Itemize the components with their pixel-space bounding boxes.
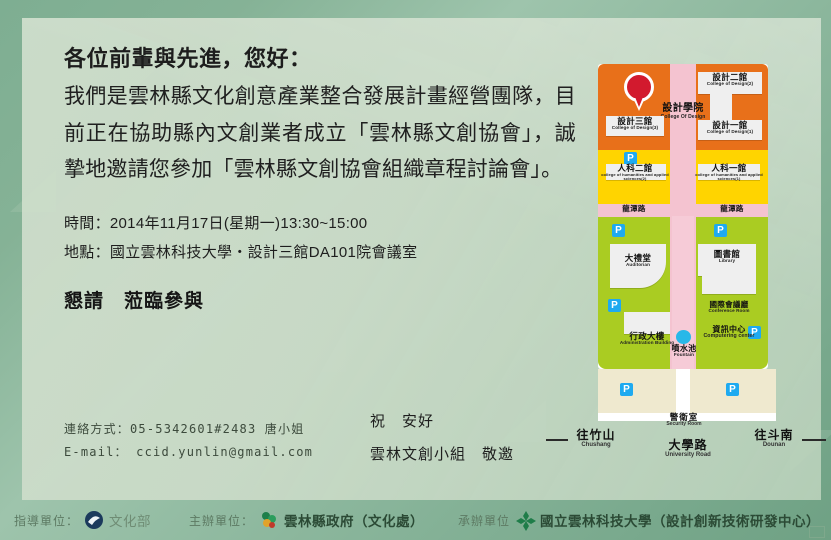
map-label-computing-center: 資訊中心 Computering center	[694, 326, 764, 340]
map-label-auditorium: 大禮堂 Auditorian	[610, 254, 666, 268]
contact-email: E-mail： ccid.yunlin@gmail.com	[64, 441, 313, 464]
map-label-conference: 國際會議廳 Conference Room	[696, 301, 762, 314]
letter-content: 各位前輩與先進，您好： 我們是雲林縣文化創意產業整合發展計畫經營團隊，目前正在協…	[64, 44, 584, 313]
sponsor-name: 國立雲林科技大學（設計創新技術研發中心）	[540, 510, 820, 530]
map-parking-icon: P	[714, 224, 727, 237]
map-label-fountain: 噴水池 Fountain	[656, 345, 712, 358]
map-label-longtan-road-right: 龍潭路	[702, 205, 762, 213]
map-label-university-road: 大學路 University Road	[652, 439, 724, 459]
map-label-security-room: 警衛室 Security Room	[648, 413, 720, 428]
campus-map: 設計學院 College Of Design 設計三館 College of D…	[598, 64, 768, 369]
sponsor-label: 承辦單位	[458, 512, 510, 529]
map-label-administration: 行政大樓 Administration Building	[614, 332, 680, 346]
location-pin-icon	[624, 72, 654, 110]
map-building-conference	[702, 276, 756, 294]
sponsor-ministry-of-culture: 指導單位： 文化部	[14, 510, 151, 530]
sponsor-yuntech: 承辦單位 國立雲林科技大學（設計創新技術研發中心）	[458, 510, 820, 530]
invite-line: 懇請 蒞臨參與	[64, 286, 584, 313]
event-time: 時間：2014年11月17日(星期一)13:30~15:00	[64, 209, 584, 238]
sponsor-label: 主辦單位：	[189, 512, 254, 529]
footer-corner-marker	[809, 526, 825, 538]
map-label-design1: 設計一館 College of Design(1)	[696, 121, 764, 135]
map-label-design2: 設計二館 College of Design(2)	[696, 73, 764, 87]
map-bottom-roads: P P 警衛室 Security Room 往竹山 Chushang 大學路 U…	[540, 369, 831, 461]
contact-block: 連絡方式：05-5342601#2483 唐小姐 E-mail： ccid.yu…	[64, 418, 313, 464]
map-label-humanities2: 人科二館 college of humanities and applied s…	[600, 164, 670, 181]
yuntech-logo-icon	[515, 510, 535, 530]
map-label-library: 圖書館 Library	[698, 250, 756, 264]
event-details: 時間：2014年11月17日(星期一)13:30~15:00 地點：國立雲林科技…	[64, 209, 584, 268]
contact-phone: 連絡方式：05-5342601#2483 唐小姐	[64, 418, 313, 441]
event-place: 地點：國立雲林科技大學・設計三館DA101院會議室	[64, 238, 584, 267]
greeting-line: 各位前輩與先進，您好：	[64, 44, 584, 75]
letter-body: 我們是雲林縣文化創意產業整合發展計畫經營團隊，目前正在協助縣內文創業者成立「雲林…	[64, 79, 576, 189]
signoff-wish: 祝 安好	[370, 405, 514, 438]
map-label-design3: 設計三館 College of Design(3)	[602, 117, 668, 131]
map-parking-icon: P	[612, 224, 625, 237]
sponsor-name: 雲林縣政府（文化處）	[284, 510, 424, 530]
map-label-longtan-road-left: 龍潭路	[604, 205, 664, 213]
map-parking-icon: P	[726, 383, 739, 396]
yunlin-county-logo-icon	[259, 510, 279, 530]
map-label-humanities1: 人科一館 college of humanities and applied s…	[694, 164, 764, 181]
map-building-design-link	[710, 94, 732, 120]
map-parking-icon: P	[620, 383, 633, 396]
sponsor-label: 指導單位：	[14, 512, 79, 529]
map-label-to-chushang: 往竹山 Chushang	[564, 429, 628, 449]
sponsor-footer: 指導單位： 文化部 主辦單位： 雲林縣政府（文化處）	[0, 500, 831, 540]
sponsor-yunlin-county: 主辦單位： 雲林縣政府（文化處）	[189, 510, 424, 530]
signoff-team: 雲林文創小組 敬邀	[370, 438, 514, 471]
map-parking-lot-left	[598, 369, 676, 413]
map-fountain-icon	[676, 330, 691, 344]
signoff-block: 祝 安好 雲林文創小組 敬邀	[370, 405, 514, 471]
sponsor-name: 文化部	[109, 510, 151, 530]
map-parking-icon: P	[608, 299, 621, 312]
map-label-to-dounan: 往斗南 Dounan	[742, 429, 806, 449]
ministry-of-culture-logo-icon	[84, 510, 104, 530]
invitation-poster: 各位前輩與先進，您好： 我們是雲林縣文化創意產業整合發展計畫經營團隊，目前正在協…	[0, 0, 831, 540]
